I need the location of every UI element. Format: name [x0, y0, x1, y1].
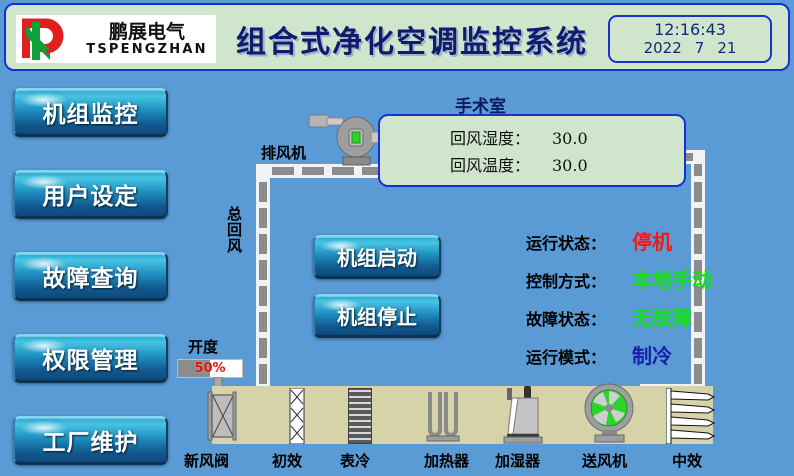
- equipment-label-fresh-air-damper: 新风阀: [184, 450, 229, 471]
- return-air-label: 总回风: [224, 206, 245, 254]
- status-label-control-mode: 控制方式：: [490, 268, 606, 292]
- start-unit-button[interactable]: 机组启动: [313, 235, 441, 279]
- logo-text-en: TSPENGZHAN: [82, 43, 212, 57]
- damper-opening-value: 50%: [178, 360, 242, 377]
- fresh-air-damper-icon: [205, 390, 237, 442]
- room-value-temperature: 30.0: [530, 152, 620, 179]
- clock-display: 12:16:43 2022 7 21: [608, 15, 772, 63]
- status-row-fault-state: 故障状态： 无故障: [490, 302, 692, 331]
- room-value-humidity: 30.0: [530, 125, 620, 152]
- status-value-run-mode: 制冷: [606, 340, 672, 369]
- room-label-humidity: 回风湿度：: [380, 125, 530, 152]
- status-label-fault-state: 故障状态：: [490, 306, 606, 330]
- sidebar-label-3: 权限管理: [43, 341, 139, 375]
- status-value-fault-state: 无故障: [606, 302, 692, 331]
- stop-unit-label: 机组停止: [337, 301, 417, 330]
- header-bar: 鹏展电气 TSPENGZHAN 组合式净化空调监控系统 12:16:43 202…: [4, 3, 790, 71]
- humidifier-icon: [494, 386, 548, 444]
- duct-left-vertical: [256, 164, 270, 392]
- equipment-label-supply-fan: 送风机: [582, 450, 627, 471]
- sidebar-item-permissions[interactable]: 权限管理: [13, 334, 168, 383]
- equipment-label-primary-filter: 初效: [272, 450, 302, 471]
- clock-date: 2022 7 21: [644, 39, 737, 58]
- status-row-control-mode: 控制方式： 本地手动: [490, 264, 712, 293]
- equipment-label-cooling-coil: 表冷: [340, 450, 370, 471]
- clock-month: 7: [695, 39, 705, 58]
- room-row-humidity: 回风湿度： 30.0: [380, 125, 684, 152]
- page-title: 组合式净化空调监控系统: [222, 17, 602, 61]
- status-label-run-state: 运行状态：: [490, 230, 606, 254]
- status-value-control-mode: 本地手动: [606, 264, 712, 293]
- equipment-label-heater: 加热器: [424, 450, 469, 471]
- clock-day: 21: [717, 39, 736, 58]
- exhaust-fan-label: 排风机: [261, 142, 306, 163]
- room-label-temperature: 回风温度：: [380, 152, 530, 179]
- sidebar-item-fault-query[interactable]: 故障查询: [13, 252, 168, 301]
- stop-unit-button[interactable]: 机组停止: [313, 294, 441, 338]
- room-panel: 回风湿度： 30.0 回风温度： 30.0: [378, 114, 686, 187]
- sidebar-label-0: 机组监控: [43, 95, 139, 129]
- sidebar-item-user-settings[interactable]: 用户设定: [13, 170, 168, 219]
- room-row-temperature: 回风温度： 30.0: [380, 152, 684, 179]
- damper-opening-bar: 50%: [177, 359, 243, 378]
- clock-time: 12:16:43: [654, 21, 726, 39]
- sidebar-item-unit-monitor[interactable]: 机组监控: [13, 88, 168, 137]
- primary-filter-icon: [288, 388, 306, 444]
- equipment-label-medium-filter: 中效: [672, 450, 702, 471]
- status-value-run-state: 停机: [606, 226, 672, 255]
- logo-mark-icon: [16, 16, 82, 62]
- equipment-label-humidifier: 加湿器: [495, 450, 540, 471]
- status-label-run-mode: 运行模式：: [490, 344, 606, 368]
- cooling-coil-icon: [348, 388, 372, 444]
- company-logo: 鹏展电气 TSPENGZHAN: [16, 15, 216, 63]
- start-unit-label: 机组启动: [337, 242, 417, 271]
- sidebar-label-1: 用户设定: [43, 177, 139, 211]
- heater-icon: [424, 390, 462, 444]
- damper-opening-label: 开度: [188, 336, 218, 357]
- status-row-run-state: 运行状态： 停机: [490, 226, 672, 255]
- sidebar-label-2: 故障查询: [43, 259, 139, 293]
- status-row-run-mode: 运行模式： 制冷: [490, 340, 672, 369]
- sidebar-label-4: 工厂维护: [43, 423, 139, 457]
- supply-fan-icon: [578, 382, 640, 444]
- clock-year: 2022: [644, 39, 682, 58]
- medium-filter-icon: [666, 388, 718, 444]
- logo-text-cn: 鹏展电气: [82, 22, 212, 43]
